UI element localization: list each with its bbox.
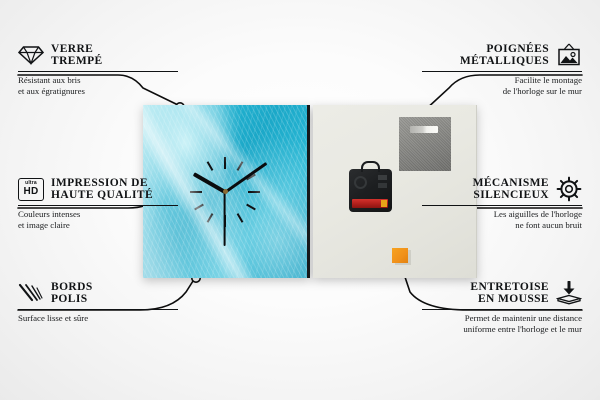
feature-title: VERRE TREMPÉ [51, 43, 103, 68]
feature-description: Permet de maintenir une distance uniform… [422, 313, 582, 334]
feature-title: BORDS POLIS [51, 281, 93, 306]
foam-spacer [392, 248, 408, 263]
feature-header: MÉCANISME SILENCIEUX [422, 176, 582, 202]
aa-battery [352, 199, 388, 208]
feature-rule [18, 71, 178, 72]
feature-bords-polis: BORDS POLIS Surface lisse et sûre [18, 280, 178, 324]
feature-description: Les aiguilles de l'horloge ne font aucun… [422, 209, 582, 230]
clock-hour-hand [193, 172, 226, 193]
feature-rule [422, 71, 582, 72]
feature-mecanisme-silencieux: MÉCANISME SILENCIEUX Les aiguilles de l'… [422, 176, 582, 230]
feature-title: ENTRETOISE EN MOUSSE [470, 281, 549, 306]
feature-header: BORDS POLIS [18, 280, 178, 306]
feature-poignees-metalliques: POIGNÉES MÉTALLIQUES Facilite le montage… [422, 42, 582, 96]
feature-header: POIGNÉES MÉTALLIQUES [422, 42, 582, 68]
feature-rule [422, 309, 582, 310]
feature-description: Couleurs intenses et image claire [18, 209, 178, 230]
foam-spacer-icon [556, 280, 582, 306]
feature-title: POIGNÉES MÉTALLIQUES [460, 43, 549, 68]
hd-badge-main-text: HD [23, 187, 38, 197]
mechanism-detail [378, 183, 387, 188]
gear-icon [556, 176, 582, 202]
clock-center-cap [223, 189, 228, 194]
battery-terminal [381, 200, 387, 207]
quartz-mechanism [349, 169, 392, 212]
feature-title: MÉCANISME SILENCIEUX [473, 177, 549, 202]
feature-description: Surface lisse et sûre [18, 313, 178, 323]
feature-rule [18, 205, 178, 206]
bracket-slot [410, 126, 438, 133]
product-infographic: VERRE TREMPÉ Résistant aux bris et aux é… [0, 0, 600, 400]
feature-description: Résistant aux bris et aux égratignures [18, 75, 178, 96]
mechanism-detail [378, 175, 387, 180]
clock-minute-hand [224, 162, 267, 193]
feature-impression-haute-qualite: ultra HD IMPRESSION DE HAUTE QUALITÉ Cou… [18, 176, 178, 230]
feature-verre-trempe: VERRE TREMPÉ Résistant aux bris et aux é… [18, 42, 178, 96]
mechanism-dial [354, 176, 367, 189]
feature-rule [422, 205, 582, 206]
diamond-icon [18, 42, 44, 68]
feature-header: VERRE TREMPÉ [18, 42, 178, 68]
feature-rule [18, 309, 178, 310]
polished-edges-icon [18, 280, 44, 306]
feature-header: ENTRETOISE EN MOUSSE [422, 280, 582, 306]
feature-entretoise-en-mousse: ENTRETOISE EN MOUSSE Permet de maintenir… [422, 280, 582, 334]
feature-header: ultra HD IMPRESSION DE HAUTE QUALITÉ [18, 176, 178, 202]
clock-second-hand [224, 192, 226, 246]
feature-description: Facilite le montage de l'horloge sur le … [422, 75, 582, 96]
ultra-hd-icon: ultra HD [18, 176, 44, 202]
hanging-frame-icon [556, 42, 582, 68]
metal-bracket [399, 117, 451, 171]
mechanism-hanging-loop [361, 161, 380, 172]
feature-title: IMPRESSION DE HAUTE QUALITÉ [51, 177, 153, 202]
